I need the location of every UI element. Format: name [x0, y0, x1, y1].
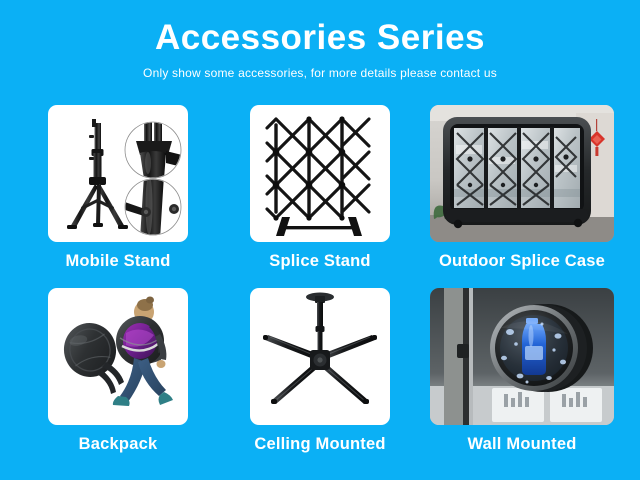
accessory-label: Outdoor Splice Case [430, 242, 614, 271]
accessory-label: Wall Mounted [430, 425, 614, 454]
card-image-frame [48, 105, 188, 242]
ceiling-mounted-icon [250, 288, 390, 425]
accessory-label: Mobile Stand [26, 242, 210, 271]
accessory-card-celling-mounted[interactable]: Celling Mounted [228, 288, 412, 454]
accessory-card-backpack[interactable]: Backpack [26, 288, 210, 454]
accessory-card-mobile-stand[interactable]: Mobile Stand [26, 105, 210, 271]
page-title: Accessories Series [0, 0, 640, 57]
wall-mounted-hologram-photo [430, 288, 614, 425]
accessory-card-outdoor-splice-case[interactable]: Outdoor Splice Case [430, 105, 614, 271]
tripod-stand-icon [48, 105, 188, 242]
card-image-frame [48, 288, 188, 425]
outdoor-splice-case-photo [430, 105, 614, 242]
accessory-card-wall-mounted[interactable]: Wall Mounted [430, 288, 614, 454]
card-image-frame [430, 105, 614, 242]
page-header: Accessories Series Only show some access… [0, 0, 640, 80]
accessories-grid: Mobile Stand [0, 98, 640, 480]
accessories-series-page: Accessories Series Only show some access… [0, 0, 640, 480]
card-image-frame [250, 288, 390, 425]
backpack-icon [48, 288, 188, 425]
splice-stand-lattice-icon [250, 105, 390, 242]
accessory-label: Celling Mounted [228, 425, 412, 454]
page-subtitle: Only show some accessories, for more det… [0, 57, 640, 80]
accessory-label: Backpack [26, 425, 210, 454]
card-image-frame [430, 288, 614, 425]
accessory-card-splice-stand[interactable]: Splice Stand [228, 105, 412, 271]
card-image-frame [250, 105, 390, 242]
accessory-label: Splice Stand [228, 242, 412, 271]
